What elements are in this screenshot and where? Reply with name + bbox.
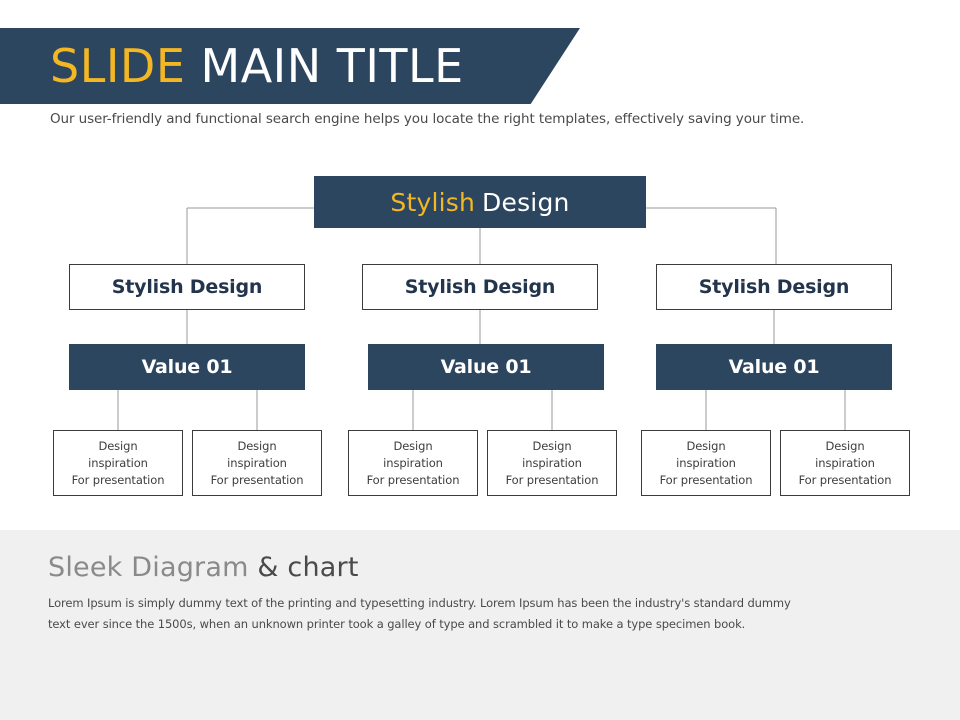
node-leaf-3-line1: Design: [393, 438, 432, 455]
node-branch-2[interactable]: Stylish Design: [362, 264, 598, 310]
node-leaf-2[interactable]: Design inspiration For presentation: [192, 430, 322, 496]
node-value-2[interactable]: Value 01: [368, 344, 604, 390]
node-branch-2-label: Stylish Design: [405, 276, 555, 298]
node-branch-1-label: Stylish Design: [112, 276, 262, 298]
node-value-1[interactable]: Value 01: [69, 344, 305, 390]
node-branch-3-label: Stylish Design: [699, 276, 849, 298]
footer-paragraph: Lorem Ipsum is simply dummy text of the …: [48, 593, 848, 635]
node-root-label-accent: Stylish: [390, 188, 475, 217]
node-leaf-2-line1: Design: [237, 438, 276, 455]
node-root[interactable]: StylishDesign: [314, 176, 646, 228]
footer-heading-light: Sleek Diagram: [48, 552, 249, 583]
node-leaf-6-line3: For presentation: [799, 472, 892, 489]
node-leaf-1-line2: inspiration: [88, 455, 148, 472]
node-leaf-2-line2: inspiration: [227, 455, 287, 472]
node-leaf-1-line1: Design: [98, 438, 137, 455]
node-leaf-1[interactable]: Design inspiration For presentation: [53, 430, 183, 496]
org-chart-diagram: StylishDesign Stylish Design Stylish Des…: [0, 0, 960, 530]
node-leaf-5-line1: Design: [686, 438, 725, 455]
node-value-3-label: Value 01: [729, 356, 820, 378]
node-branch-1[interactable]: Stylish Design: [69, 264, 305, 310]
footer-heading: Sleek Diagram & chart: [48, 552, 359, 583]
node-leaf-6-line1: Design: [825, 438, 864, 455]
node-leaf-1-line3: For presentation: [72, 472, 165, 489]
node-branch-3[interactable]: Stylish Design: [656, 264, 892, 310]
node-leaf-4[interactable]: Design inspiration For presentation: [487, 430, 617, 496]
node-leaf-5-line3: For presentation: [660, 472, 753, 489]
node-leaf-3-line2: inspiration: [383, 455, 443, 472]
node-leaf-4-line2: inspiration: [522, 455, 582, 472]
node-value-2-label: Value 01: [441, 356, 532, 378]
node-leaf-3-line3: For presentation: [367, 472, 460, 489]
node-leaf-5-line2: inspiration: [676, 455, 736, 472]
node-leaf-4-line1: Design: [532, 438, 571, 455]
footer-paragraph-line2: text ever since the 1500s, when an unkno…: [48, 614, 848, 635]
node-leaf-3[interactable]: Design inspiration For presentation: [348, 430, 478, 496]
node-leaf-6-line2: inspiration: [815, 455, 875, 472]
node-value-1-label: Value 01: [142, 356, 233, 378]
node-leaf-5[interactable]: Design inspiration For presentation: [641, 430, 771, 496]
node-leaf-4-line3: For presentation: [506, 472, 599, 489]
node-leaf-2-line3: For presentation: [211, 472, 304, 489]
footer-heading-dark: & chart: [249, 552, 359, 583]
footer-paragraph-line1: Lorem Ipsum is simply dummy text of the …: [48, 593, 848, 614]
node-leaf-6[interactable]: Design inspiration For presentation: [780, 430, 910, 496]
node-value-3[interactable]: Value 01: [656, 344, 892, 390]
node-root-label-main: Design: [475, 188, 570, 217]
